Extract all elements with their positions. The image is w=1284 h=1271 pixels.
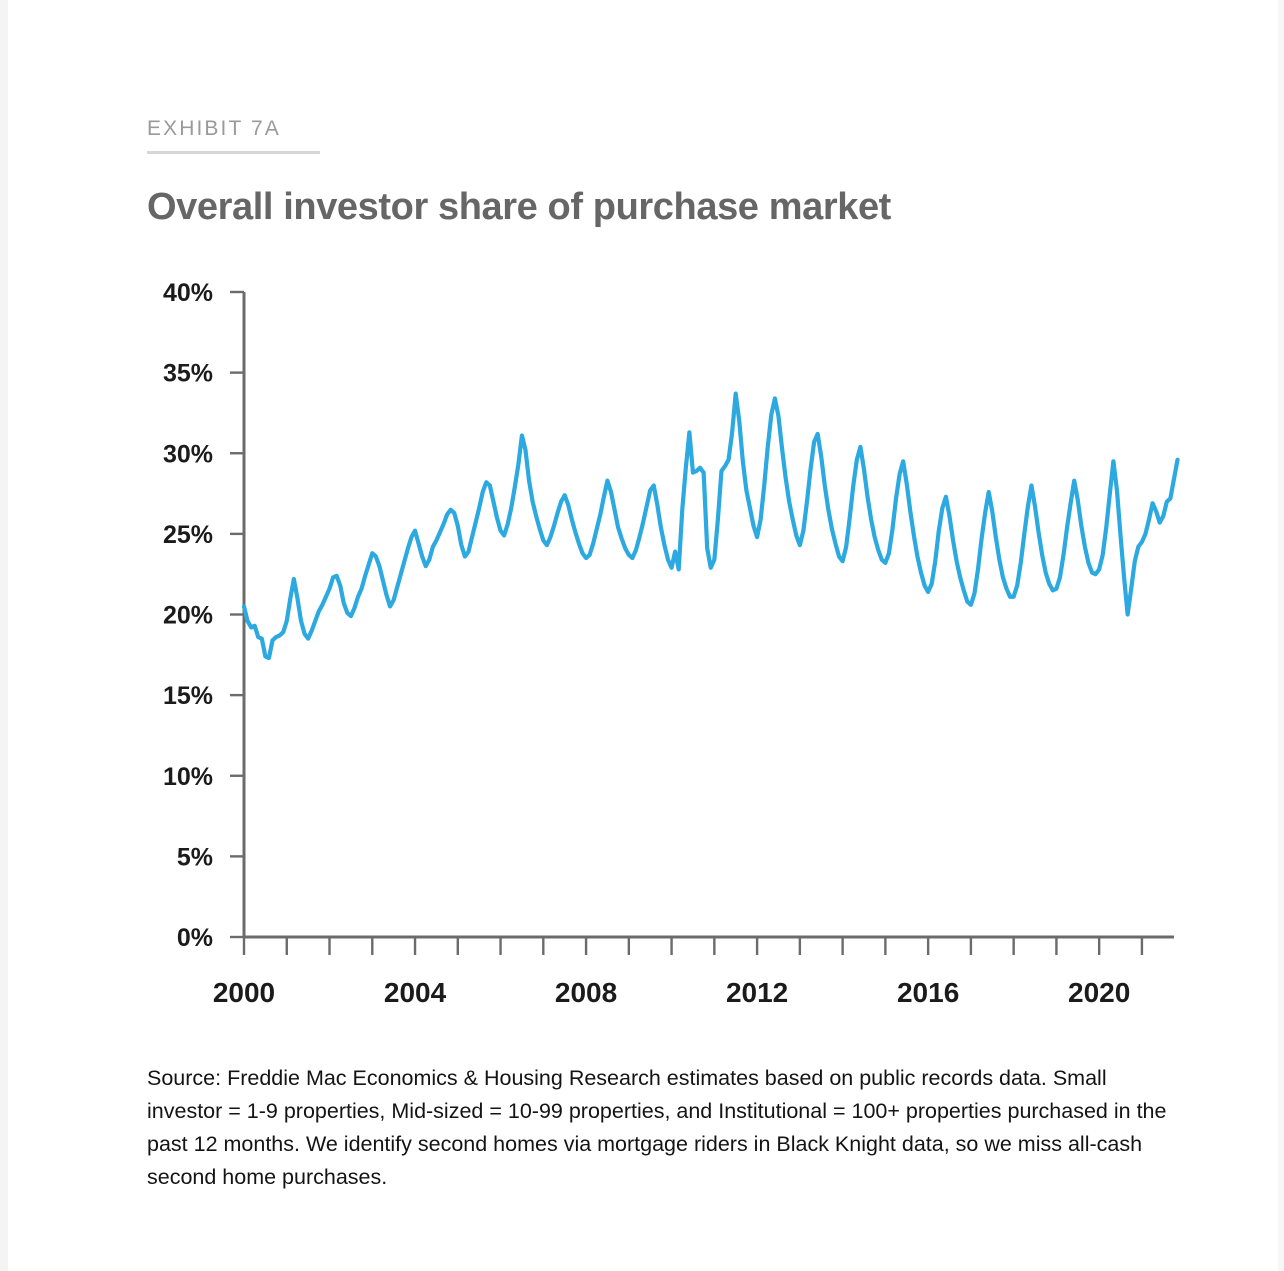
- x-axis-tick-label: 2016: [897, 977, 959, 1008]
- y-axis-tick-label: 0%: [177, 924, 213, 952]
- y-axis-tick-label: 40%: [163, 279, 213, 307]
- y-axis-tick-label: 15%: [163, 682, 213, 710]
- line-chart-svg: 0%5%10%15%20%25%30%35%40% 20002004200820…: [8, 0, 1284, 1060]
- y-axis-tick-label: 35%: [163, 360, 213, 388]
- y-axis-tick-label: 10%: [163, 763, 213, 791]
- x-axis-tick-label: 2012: [726, 977, 788, 1008]
- y-axis-tick-label: 20%: [163, 602, 213, 630]
- y-axis-tick-label: 25%: [163, 521, 213, 549]
- x-axis-tick-label: 2008: [555, 977, 617, 1008]
- x-axis-tick-label: 2000: [213, 977, 275, 1008]
- page-background: EXHIBIT 7A Overall investor share of pur…: [0, 0, 1284, 1271]
- chart-card: EXHIBIT 7A Overall investor share of pur…: [8, 0, 1278, 1271]
- x-axis-tick-label: 2004: [384, 977, 447, 1008]
- data-series-line-overall-investor-share: [244, 394, 1178, 658]
- source-note: Source: Freddie Mac Economics & Housing …: [147, 1062, 1167, 1194]
- y-axis-tick-labels: 0%5%10%15%20%25%30%35%40%: [163, 279, 213, 952]
- y-axis-tick-marks: [230, 292, 244, 937]
- chart-plot-area: 0%5%10%15%20%25%30%35%40% 20002004200820…: [8, 0, 1284, 1060]
- y-axis-tick-label: 5%: [177, 843, 213, 871]
- x-axis-tick-marks: [244, 937, 1142, 955]
- x-axis-tick-labels: 200020042008201220162020: [213, 977, 1130, 1008]
- y-axis-tick-label: 30%: [163, 440, 213, 468]
- x-axis-tick-label: 2020: [1068, 977, 1130, 1008]
